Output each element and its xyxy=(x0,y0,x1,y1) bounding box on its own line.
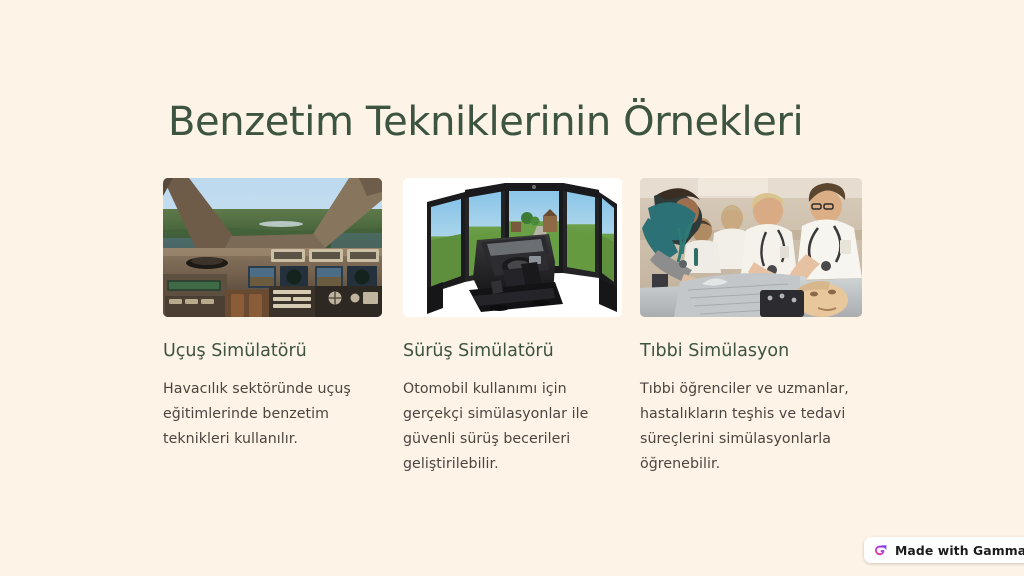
card-medical-simulation: Tıbbi Simülasyon Tıbbi öğrenciler ve uzm… xyxy=(640,178,862,478)
card-flight-simulator: Uçuş Simülatörü Havacılık sektöründe uçu… xyxy=(163,178,382,452)
card-heading: Tıbbi Simülasyon xyxy=(640,340,862,364)
page-title: Benzetim Tekniklerinin Örnekleri xyxy=(168,99,803,145)
made-with-gamma-label: Made with Gamma xyxy=(895,543,1024,558)
made-with-gamma-badge[interactable]: Made with Gamma xyxy=(864,537,1024,563)
gamma-logo-icon xyxy=(873,543,888,558)
medical-simulation-training-photo xyxy=(640,178,862,317)
card-body: Tıbbi öğrenciler ve uzmanlar, hastalıkla… xyxy=(640,377,862,478)
card-heading: Uçuş Simülatörü xyxy=(163,340,382,364)
card-body: Havacılık sektöründe uçuş eğitimlerinde … xyxy=(163,377,382,453)
slide-root: Benzetim Tekniklerinin Örnekleri xyxy=(0,0,1024,576)
driving-simulator-rig-photo xyxy=(403,178,622,317)
card-driving-simulator: Sürüş Simülatörü Otomobil kullanımı için… xyxy=(403,178,622,478)
card-heading: Sürüş Simülatörü xyxy=(403,340,622,364)
card-body: Otomobil kullanımı için gerçekçi simülas… xyxy=(403,377,622,478)
flight-simulator-cockpit-photo xyxy=(163,178,382,317)
